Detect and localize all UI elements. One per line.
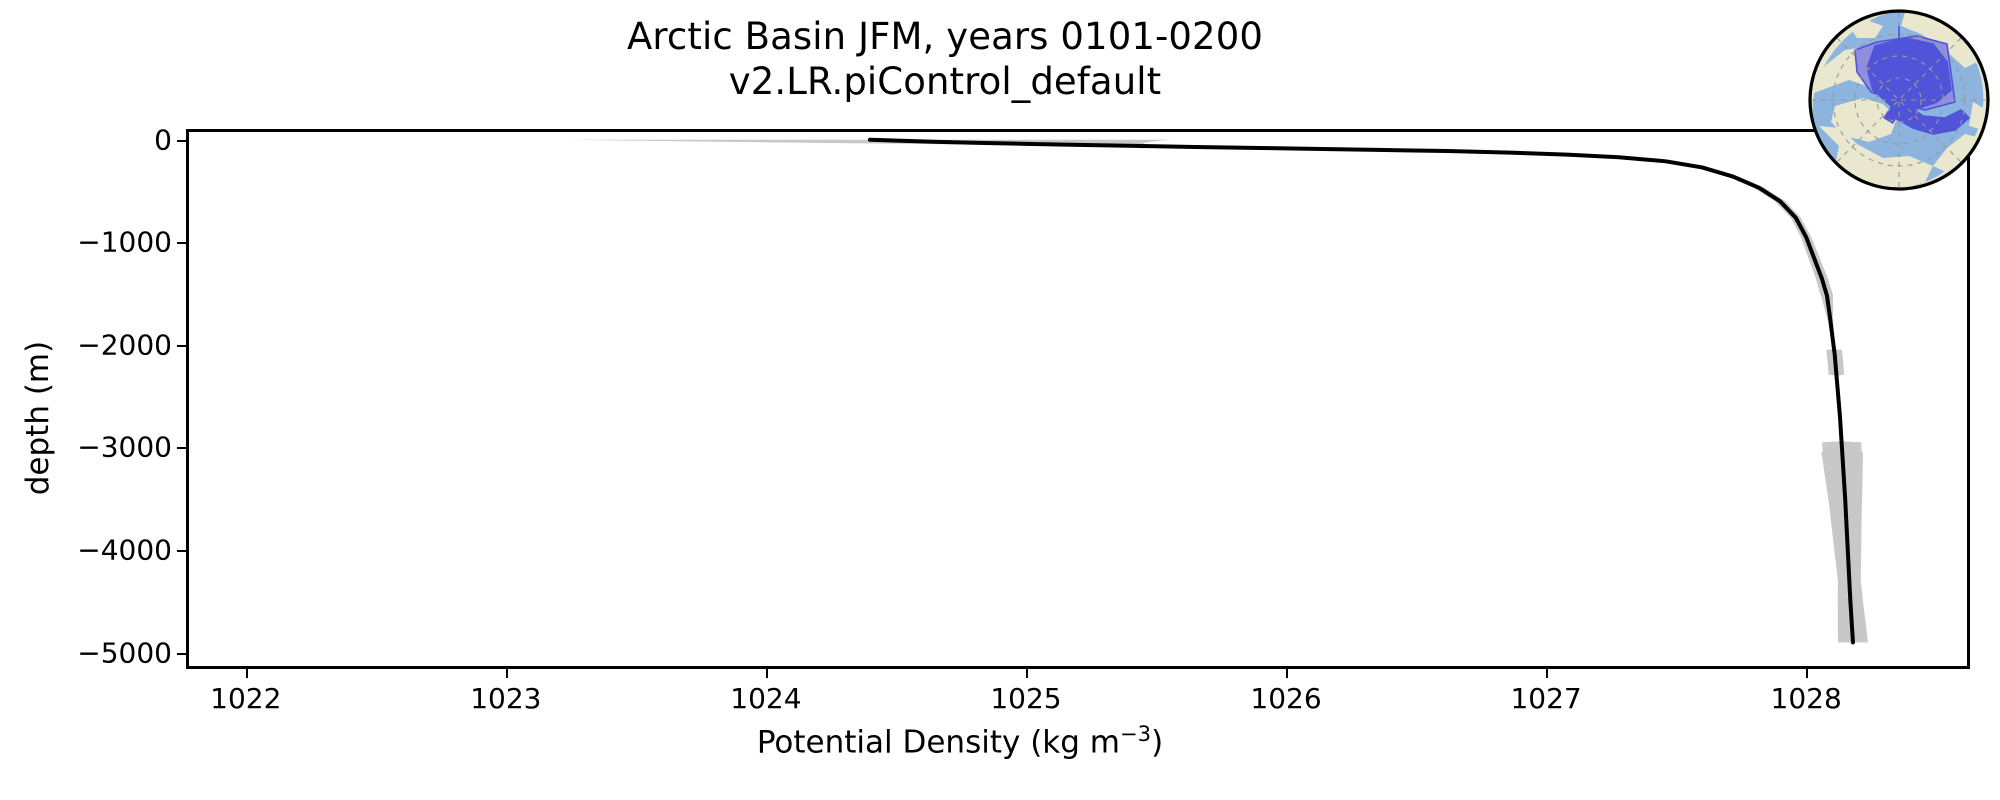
figure-canvas: Arctic Basin JFM, years 0101-0200 v2.LR.… <box>0 0 2000 800</box>
y-tick-mark <box>177 653 186 655</box>
y-axis-label: depth (m) <box>20 288 56 548</box>
x-tick-mark <box>766 669 768 678</box>
x-tick-mark <box>506 669 508 678</box>
x-tick-label: 1022 <box>210 682 281 715</box>
x-tick-mark <box>1806 669 1808 678</box>
y-tick-label: −5000 <box>77 636 172 669</box>
x-tick-label: 1028 <box>1771 682 1842 715</box>
x-tick-mark <box>1026 669 1028 678</box>
y-tick-label: −1000 <box>77 226 172 259</box>
x-tick-label: 1027 <box>1510 682 1581 715</box>
figure-title-line-1: Arctic Basin JFM, years 0101-0200 <box>0 14 1890 59</box>
x-tick-label: 1024 <box>730 682 801 715</box>
y-tick-label: −3000 <box>77 431 172 464</box>
x-axis-label-exponent: −3 <box>1120 721 1151 746</box>
x-tick-label: 1023 <box>470 682 541 715</box>
y-tick-label: 0 <box>154 123 172 156</box>
x-tick-mark <box>1286 669 1288 678</box>
y-tick-mark <box>177 447 186 449</box>
x-tick-mark <box>246 669 248 678</box>
axes-frame <box>186 129 1970 669</box>
y-tick-mark <box>177 345 186 347</box>
arctic-basin-region-map-icon <box>1805 6 1993 194</box>
x-tick-mark <box>1546 669 1548 678</box>
x-tick-label: 1025 <box>990 682 1061 715</box>
y-tick-mark <box>177 242 186 244</box>
x-axis-label: Potential Density (kg m−3) <box>0 721 1920 760</box>
x-axis-label-tail: ) <box>1151 724 1163 760</box>
x-tick-label: 1026 <box>1250 682 1321 715</box>
y-tick-mark <box>177 550 186 552</box>
x-axis-label-text: Potential Density (kg m <box>757 724 1120 760</box>
figure-title: Arctic Basin JFM, years 0101-0200 v2.LR.… <box>0 14 1890 104</box>
y-tick-label: −2000 <box>77 328 172 361</box>
y-tick-mark <box>177 140 186 142</box>
figure-title-line-2: v2.LR.piControl_default <box>0 59 1890 104</box>
y-tick-label: −4000 <box>77 534 172 567</box>
